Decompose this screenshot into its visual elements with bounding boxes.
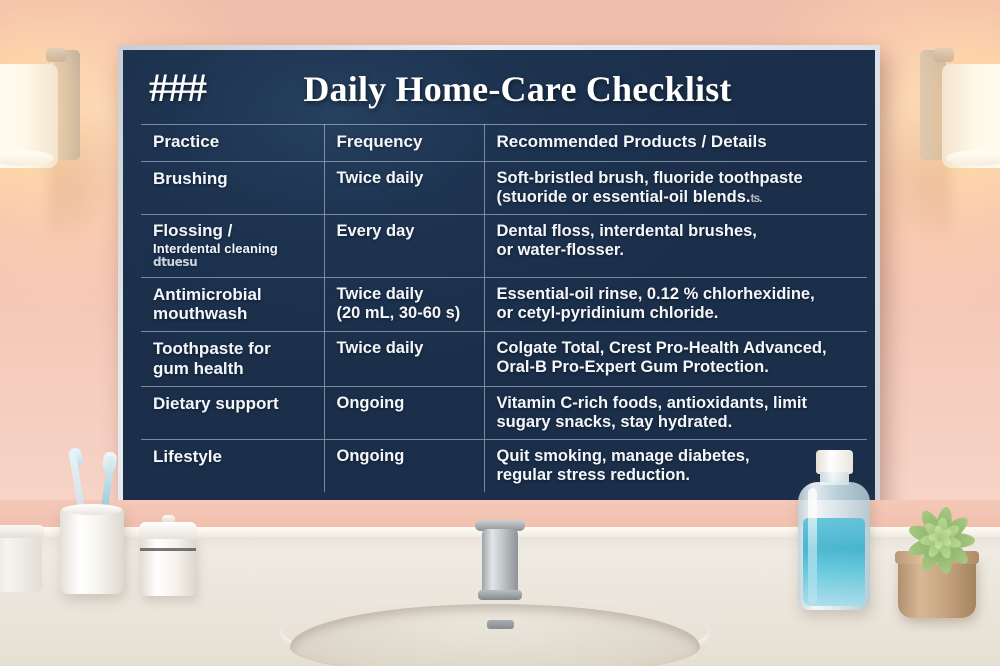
details-line-1: Essential-oil rinse, 0.12 % chlorhexidin… [497,285,815,303]
board-inner-panel: ### Daily Home-Care Checklist Practice F… [123,50,875,500]
practice-subline: Interdental cleaning [153,241,314,256]
plant-pot [898,556,976,618]
cell-practice: Flossing / Interdental cleaning dtuesu [141,214,324,277]
details-line-2: (stuoride or essential-oil blends. [497,188,751,206]
details-line-2: Oral-B Pro-Expert Gum Protection. [497,358,769,376]
cell-frequency: Every day [324,214,484,277]
cell-frequency: Twice daily (20 mL, 30-60 s) [324,277,484,331]
cell-frequency: Twice daily [324,161,484,214]
cell-frequency: Ongoing [324,386,484,439]
bottle-cap [816,450,853,474]
table-row: Antimicrobial mouthwash Twice daily (20 … [141,277,867,331]
markdown-hash-prefix: ### [149,64,206,111]
cell-details: Vitamin C-rich foods, antioxidants, limi… [484,386,867,439]
practice-line-1: Antimicrobial [153,285,262,304]
cell-practice: Antimicrobial mouthwash [141,277,324,331]
table-row: Lifestyle Ongoing Quit smoking, manage d… [141,439,867,492]
practice-line-2: mouthwash [153,304,247,323]
canister [140,534,196,596]
sconce-arm-left [46,48,66,62]
checklist-board: ### Daily Home-Care Checklist Practice F… [118,45,880,505]
details-line-1: Colgate Total, Crest Pro-Health Advanced… [497,339,827,357]
practice-line-1: Flossing / [153,221,232,240]
cell-details: Dental floss, interdental brushes, or wa… [484,214,867,277]
table-row: Toothpaste for gum health Twice daily Co… [141,332,867,386]
succulent-plant [890,500,984,564]
column-header-details: Recommended Products / Details [484,125,867,162]
frequency-line-1: Twice daily [337,285,424,303]
details-line-2: regular stress reduction. [497,466,690,484]
cell-practice: Toothpaste for gum health [141,332,324,386]
wall-sconce-right [914,42,1000,182]
board-header: ### Daily Home-Care Checklist [123,50,875,124]
wall-sconce-left [0,42,86,182]
sconce-shade-left [0,64,58,168]
faucet-base [478,590,522,600]
table-header-row: Practice Frequency Recommended Products … [141,125,867,162]
bathroom-scene: ### Daily Home-Care Checklist Practice F… [0,0,1000,666]
storage-box [0,534,42,592]
canister-lid [139,522,197,539]
details-garbled-glyphs: ts. [750,191,761,205]
table-row: Brushing Twice daily Soft-bristled brush… [141,161,867,214]
cell-frequency: Ongoing [324,439,484,492]
details-line-2: or cetyl-pyridinium chloride. [497,304,719,322]
practice-line-2: gum health [153,359,244,378]
details-line-1: Soft-bristled brush, fluoride toothpaste [497,169,803,187]
column-header-frequency: Frequency [324,125,484,162]
cell-practice: Dietary support [141,386,324,439]
sconce-arm-right [934,48,954,62]
practice-line-1: Toothpaste for [153,339,271,358]
sink-drain [487,620,514,629]
storage-box-lid [0,525,44,538]
cell-frequency: Twice daily [324,332,484,386]
page-title: Daily Home-Care Checklist [206,68,829,110]
cell-details: Colgate Total, Crest Pro-Health Advanced… [484,332,867,386]
bottle-body [798,482,870,610]
faucet-body [482,529,518,597]
faucet [479,520,521,600]
cell-details: Essential-oil rinse, 0.12 % chlorhexidin… [484,277,867,331]
checklist-table: Practice Frequency Recommended Products … [141,124,867,492]
practice-garbled-glyphs: dtuesu [153,256,314,270]
toothbrush-cup [60,508,124,594]
cell-practice: Lifestyle [141,439,324,492]
details-line-1: Vitamin C-rich foods, antioxidants, limi… [497,394,807,412]
details-line-2: or water-flosser. [497,241,624,259]
details-line-2: sugary snacks, stay hydrated. [497,413,733,431]
cell-practice: Brushing [141,161,324,214]
frequency-line-2: (20 mL, 30-60 s) [337,304,461,322]
table-row: Dietary support Ongoing Vitamin C-rich f… [141,386,867,439]
details-line-1: Dental floss, interdental brushes, [497,222,757,240]
canister-seam [140,548,196,551]
table-row: Flossing / Interdental cleaning dtuesu E… [141,214,867,277]
sconce-shade-right [942,64,1000,168]
column-header-practice: Practice [141,125,324,162]
details-line-1: Quit smoking, manage diabetes, [497,447,750,465]
mouthwash-bottle [798,450,870,610]
cell-details: Soft-bristled brush, fluoride toothpaste… [484,161,867,214]
bottle-highlight [808,488,817,604]
